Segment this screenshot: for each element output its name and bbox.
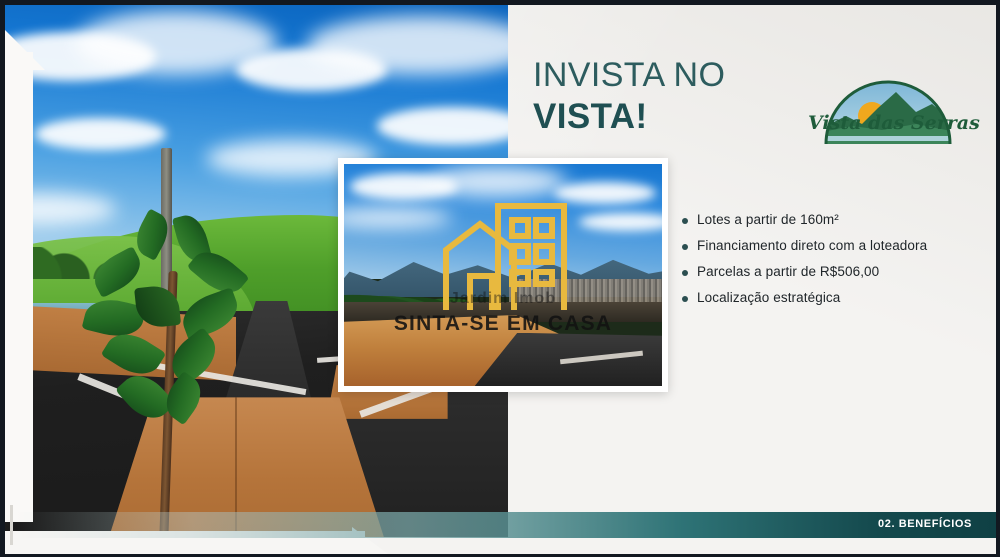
frame-edge-left: [0, 0, 5, 557]
benefits-list: Lotes a partir de 160m² Financiamento di…: [682, 212, 982, 316]
list-item: Localização estratégica: [682, 290, 982, 307]
benefit-label: Parcelas a partir de R$506,00: [697, 264, 879, 281]
list-item: Financiamento direto com a loteadora: [682, 238, 982, 255]
footer-gradient-bar: [16, 512, 996, 538]
cloud-shape: [427, 166, 567, 197]
footer-tick-mark: [10, 505, 13, 545]
tree-leaf: [177, 287, 244, 341]
list-item: Lotes a partir de 160m²: [682, 212, 982, 229]
benefit-label: Lotes a partir de 160m²: [697, 212, 839, 229]
inset-photo-frame: Jardim Imob SINTA-SE EM CASA: [338, 158, 668, 392]
hero-mat-left: [5, 52, 33, 522]
inset-tagline: SINTA-SE EM CASA: [344, 312, 662, 336]
brand-name-text: Vista das Serras: [808, 112, 970, 134]
presentation-slide: Jardim Imob SINTA-SE EM CASA INVISTA NO …: [0, 0, 1000, 557]
list-item: Parcelas a partir de R$506,00: [682, 264, 982, 281]
bullet-dot-icon: [682, 296, 688, 302]
inset-brand-watermark: Jardim Imob: [344, 290, 662, 308]
bullet-dot-icon: [682, 270, 688, 276]
headline-line-1: INVISTA NO: [533, 58, 725, 93]
frame-edge-right: [996, 0, 1000, 557]
bullet-dot-icon: [682, 244, 688, 250]
bullet-dot-icon: [682, 218, 688, 224]
inset-photo: Jardim Imob SINTA-SE EM CASA: [344, 164, 662, 386]
footer-section-label: 02. BENEFÍCIOS: [878, 518, 972, 530]
foreground-tree: [85, 177, 256, 537]
headline-line-2: VISTA!: [533, 99, 725, 135]
cloud-shape: [579, 213, 662, 231]
benefit-label: Financiamento direto com a loteadora: [697, 238, 927, 255]
frame-edge-top: [0, 0, 1000, 5]
slide-headline: INVISTA NO VISTA!: [533, 58, 725, 134]
benefit-label: Localização estratégica: [697, 290, 840, 307]
